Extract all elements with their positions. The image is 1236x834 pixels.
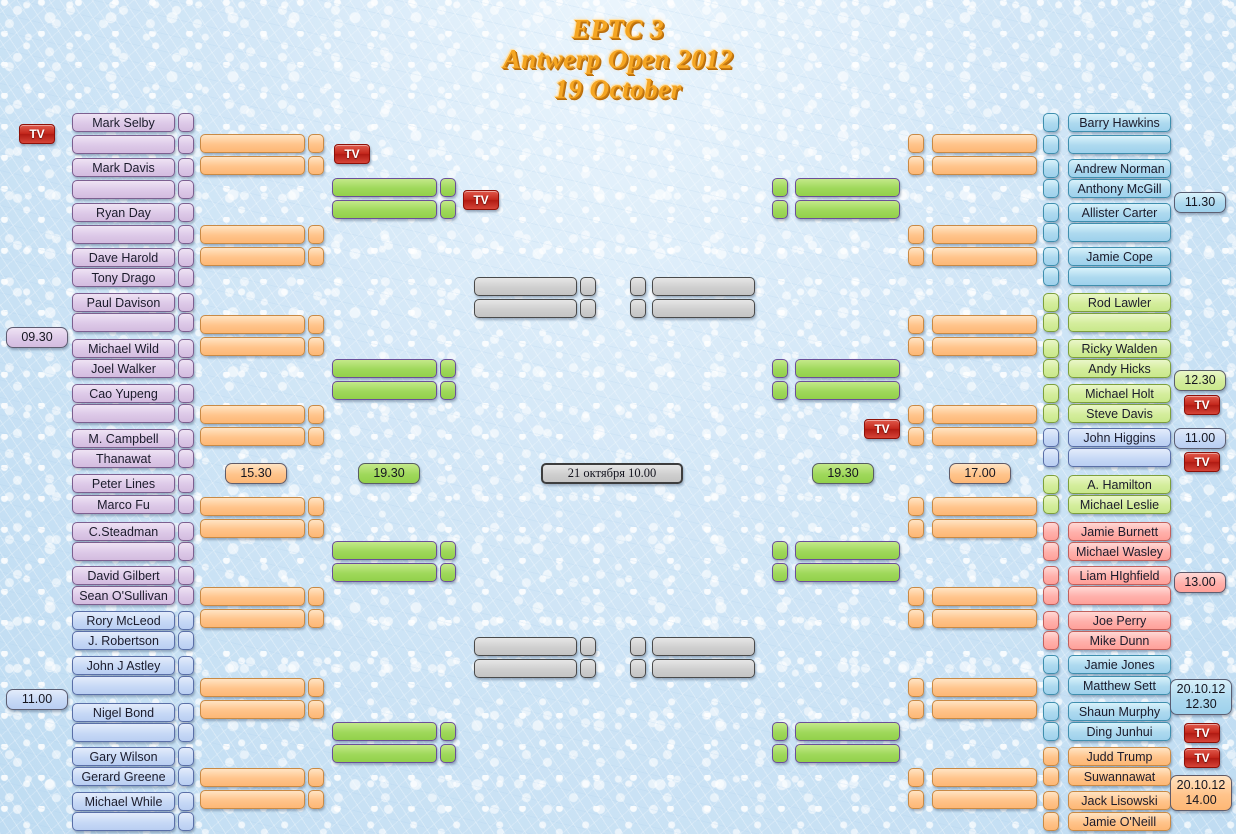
title-line-1: EPTC 3 bbox=[0, 14, 1236, 44]
score-box[interactable] bbox=[308, 587, 324, 606]
time-label-line: 11.00 bbox=[1185, 431, 1215, 446]
score-box[interactable] bbox=[908, 247, 924, 266]
empty-slot[interactable] bbox=[795, 722, 900, 741]
score-box[interactable] bbox=[1043, 359, 1059, 378]
score-box[interactable] bbox=[908, 134, 924, 153]
time-label-line: 19.30 bbox=[373, 466, 404, 481]
player-slot[interactable]: Ricky Walden bbox=[1068, 339, 1171, 358]
player-slot[interactable]: Sean O'Sullivan bbox=[72, 586, 175, 605]
empty-slot[interactable] bbox=[1068, 586, 1171, 605]
score-box[interactable] bbox=[178, 268, 194, 287]
score-box[interactable] bbox=[178, 313, 194, 332]
score-box[interactable] bbox=[308, 337, 324, 356]
score-box[interactable] bbox=[1043, 404, 1059, 423]
empty-slot[interactable] bbox=[652, 299, 755, 318]
empty-slot[interactable] bbox=[72, 225, 175, 244]
player-slot[interactable]: Peter Lines bbox=[72, 474, 175, 493]
player-slot[interactable]: Gerard Greene bbox=[72, 767, 175, 786]
score-box[interactable] bbox=[178, 248, 194, 267]
score-box[interactable] bbox=[772, 381, 788, 400]
empty-slot[interactable] bbox=[200, 134, 305, 153]
page-title: EPTC 3 Antwerp Open 2012 19 October bbox=[0, 14, 1236, 104]
empty-slot[interactable] bbox=[474, 277, 577, 296]
score-box[interactable] bbox=[308, 427, 324, 446]
score-box[interactable] bbox=[178, 703, 194, 722]
score-box[interactable] bbox=[440, 359, 456, 378]
empty-slot[interactable] bbox=[932, 156, 1037, 175]
tv-badge: TV bbox=[334, 144, 370, 164]
score-box[interactable] bbox=[308, 790, 324, 809]
score-box[interactable] bbox=[308, 609, 324, 628]
player-slot[interactable]: Tony Drago bbox=[72, 268, 175, 287]
score-box[interactable] bbox=[440, 381, 456, 400]
score-box[interactable] bbox=[908, 768, 924, 787]
score-box[interactable] bbox=[1043, 791, 1059, 810]
score-box[interactable] bbox=[1043, 179, 1059, 198]
score-box[interactable] bbox=[630, 299, 646, 318]
score-box[interactable] bbox=[308, 768, 324, 787]
player-slot[interactable]: Gary Wilson bbox=[72, 747, 175, 766]
empty-slot[interactable] bbox=[932, 587, 1037, 606]
empty-slot[interactable] bbox=[332, 381, 437, 400]
score-box[interactable] bbox=[1043, 747, 1059, 766]
score-box[interactable] bbox=[178, 359, 194, 378]
player-slot[interactable]: Michael While bbox=[72, 792, 175, 811]
empty-slot[interactable] bbox=[652, 277, 755, 296]
title-line-3: 19 October bbox=[0, 74, 1236, 104]
score-box[interactable] bbox=[308, 678, 324, 697]
score-box[interactable] bbox=[440, 744, 456, 763]
player-slot[interactable]: Michael Wild bbox=[72, 339, 175, 358]
empty-slot[interactable] bbox=[72, 676, 175, 695]
time-label-line: 17.00 bbox=[964, 466, 995, 481]
score-box[interactable] bbox=[178, 339, 194, 358]
player-slot[interactable]: Andrew Norman bbox=[1068, 159, 1171, 178]
empty-slot[interactable] bbox=[332, 200, 437, 219]
score-box[interactable] bbox=[908, 427, 924, 446]
empty-slot[interactable] bbox=[932, 768, 1037, 787]
score-box[interactable] bbox=[178, 586, 194, 605]
score-box[interactable] bbox=[308, 700, 324, 719]
empty-slot[interactable] bbox=[200, 587, 305, 606]
player-slot[interactable]: Marco Fu bbox=[72, 495, 175, 514]
score-box[interactable] bbox=[178, 611, 194, 630]
score-box[interactable] bbox=[908, 337, 924, 356]
score-box[interactable] bbox=[1043, 586, 1059, 605]
empty-slot[interactable] bbox=[332, 722, 437, 741]
score-box[interactable] bbox=[1043, 293, 1059, 312]
title-line-2: Antwerp Open 2012 bbox=[0, 44, 1236, 74]
empty-slot[interactable] bbox=[72, 723, 175, 742]
player-slot[interactable]: John Higgins bbox=[1068, 428, 1171, 447]
score-box[interactable] bbox=[630, 659, 646, 678]
score-box[interactable] bbox=[178, 180, 194, 199]
empty-slot[interactable] bbox=[932, 134, 1037, 153]
empty-slot[interactable] bbox=[795, 541, 900, 560]
score-box[interactable] bbox=[308, 405, 324, 424]
player-slot[interactable]: Mark Selby bbox=[72, 113, 175, 132]
empty-slot[interactable] bbox=[932, 247, 1037, 266]
time-label: 13.00 bbox=[1174, 572, 1226, 593]
score-box[interactable] bbox=[308, 519, 324, 538]
score-box[interactable] bbox=[178, 631, 194, 650]
score-box[interactable] bbox=[908, 156, 924, 175]
empty-slot[interactable] bbox=[932, 405, 1037, 424]
score-box[interactable] bbox=[1043, 495, 1059, 514]
final-time-label: 21 октября 10.00 bbox=[541, 463, 683, 484]
time-label: 11.30 bbox=[1174, 192, 1226, 213]
score-box[interactable] bbox=[908, 609, 924, 628]
score-box[interactable] bbox=[178, 723, 194, 742]
score-box[interactable] bbox=[308, 134, 324, 153]
empty-slot[interactable] bbox=[932, 790, 1037, 809]
score-box[interactable] bbox=[178, 566, 194, 585]
empty-slot[interactable] bbox=[932, 497, 1037, 516]
score-box[interactable] bbox=[178, 542, 194, 561]
score-box[interactable] bbox=[178, 225, 194, 244]
score-box[interactable] bbox=[178, 767, 194, 786]
empty-slot[interactable] bbox=[200, 337, 305, 356]
empty-slot[interactable] bbox=[1068, 448, 1171, 467]
empty-slot[interactable] bbox=[932, 609, 1037, 628]
player-slot[interactable]: Thanawat bbox=[72, 449, 175, 468]
empty-slot[interactable] bbox=[200, 247, 305, 266]
time-label: 12.30 bbox=[1174, 370, 1226, 391]
empty-slot[interactable] bbox=[200, 497, 305, 516]
score-box[interactable] bbox=[178, 158, 194, 177]
player-slot[interactable]: Andy Hicks bbox=[1068, 359, 1171, 378]
score-box[interactable] bbox=[440, 563, 456, 582]
player-slot[interactable]: Joel Walker bbox=[72, 359, 175, 378]
score-box[interactable] bbox=[1043, 384, 1059, 403]
score-box[interactable] bbox=[772, 563, 788, 582]
empty-slot[interactable] bbox=[200, 225, 305, 244]
score-box[interactable] bbox=[580, 277, 596, 296]
score-box[interactable] bbox=[1043, 542, 1059, 561]
player-slot[interactable]: C.Steadman bbox=[72, 522, 175, 541]
score-box[interactable] bbox=[908, 678, 924, 697]
time-label: 19.30 bbox=[812, 463, 874, 484]
player-slot[interactable]: Nigel Bond bbox=[72, 703, 175, 722]
score-box[interactable] bbox=[308, 225, 324, 244]
score-box[interactable] bbox=[1043, 702, 1059, 721]
score-box[interactable] bbox=[1043, 113, 1059, 132]
time-label-line: 11.00 bbox=[22, 692, 52, 707]
score-box[interactable] bbox=[308, 315, 324, 334]
empty-slot[interactable] bbox=[332, 744, 437, 763]
score-box[interactable] bbox=[772, 200, 788, 219]
score-box[interactable] bbox=[630, 277, 646, 296]
score-box[interactable] bbox=[1043, 676, 1059, 695]
empty-slot[interactable] bbox=[652, 637, 755, 656]
score-box[interactable] bbox=[178, 384, 194, 403]
score-box[interactable] bbox=[1043, 522, 1059, 541]
empty-slot[interactable] bbox=[72, 313, 175, 332]
score-box[interactable] bbox=[308, 156, 324, 175]
empty-slot[interactable] bbox=[932, 678, 1037, 697]
score-box[interactable] bbox=[580, 299, 596, 318]
empty-slot[interactable] bbox=[932, 519, 1037, 538]
score-box[interactable] bbox=[1043, 159, 1059, 178]
score-box[interactable] bbox=[178, 747, 194, 766]
score-box[interactable] bbox=[1043, 135, 1059, 154]
player-slot[interactable]: Shaun Murphy bbox=[1068, 702, 1171, 721]
empty-slot[interactable] bbox=[72, 180, 175, 199]
time-label: 11.00 bbox=[1174, 428, 1226, 449]
player-slot[interactable]: Joe Perry bbox=[1068, 611, 1171, 630]
player-slot[interactable]: Dave Harold bbox=[72, 248, 175, 267]
empty-slot[interactable] bbox=[795, 178, 900, 197]
tv-badge: TV bbox=[1184, 452, 1220, 472]
score-box[interactable] bbox=[440, 200, 456, 219]
player-slot[interactable]: John J Astley bbox=[72, 656, 175, 675]
score-box[interactable] bbox=[1043, 203, 1059, 222]
score-box[interactable] bbox=[178, 449, 194, 468]
score-box[interactable] bbox=[178, 404, 194, 423]
score-box[interactable] bbox=[630, 637, 646, 656]
player-slot[interactable]: Michael Leslie bbox=[1068, 495, 1171, 514]
empty-slot[interactable] bbox=[200, 156, 305, 175]
player-slot[interactable]: Michael Holt bbox=[1068, 384, 1171, 403]
time-label-line: 12.30 bbox=[1185, 697, 1216, 712]
empty-slot[interactable] bbox=[200, 768, 305, 787]
score-box[interactable] bbox=[1043, 448, 1059, 467]
empty-slot[interactable] bbox=[200, 790, 305, 809]
time-label-line: 12.30 bbox=[1184, 373, 1215, 388]
score-box[interactable] bbox=[772, 744, 788, 763]
score-box[interactable] bbox=[772, 541, 788, 560]
time-label: 20.10.1214.00 bbox=[1170, 775, 1232, 811]
empty-slot[interactable] bbox=[932, 427, 1037, 446]
time-label-line: 19.30 bbox=[827, 466, 858, 481]
score-box[interactable] bbox=[1043, 475, 1059, 494]
player-slot[interactable]: Cao Yupeng bbox=[72, 384, 175, 403]
player-slot[interactable]: Jamie Cope bbox=[1068, 247, 1171, 266]
time-label-line: 09.30 bbox=[21, 330, 52, 345]
player-slot[interactable]: Matthew Sett bbox=[1068, 676, 1171, 695]
player-slot[interactable]: Barry Hawkins bbox=[1068, 113, 1171, 132]
empty-slot[interactable] bbox=[200, 405, 305, 424]
score-box[interactable] bbox=[1043, 566, 1059, 585]
player-slot[interactable]: Paul Davison bbox=[72, 293, 175, 312]
empty-slot[interactable] bbox=[932, 700, 1037, 719]
tv-badge: TV bbox=[1184, 395, 1220, 415]
empty-slot[interactable] bbox=[795, 381, 900, 400]
time-label: 20.10.1212.30 bbox=[1170, 679, 1232, 715]
empty-slot[interactable] bbox=[932, 315, 1037, 334]
score-box[interactable] bbox=[1043, 655, 1059, 674]
score-box[interactable] bbox=[1043, 611, 1059, 630]
player-slot[interactable]: Judd Trump bbox=[1068, 747, 1171, 766]
player-slot[interactable]: Steve Davis bbox=[1068, 404, 1171, 423]
empty-slot[interactable] bbox=[932, 225, 1037, 244]
score-box[interactable] bbox=[178, 495, 194, 514]
tv-badge: TV bbox=[1184, 748, 1220, 768]
score-box[interactable] bbox=[908, 225, 924, 244]
time-label: 15.30 bbox=[225, 463, 287, 484]
player-slot[interactable]: Suwannawat bbox=[1068, 767, 1171, 786]
score-box[interactable] bbox=[580, 637, 596, 656]
player-slot[interactable]: A. Hamilton bbox=[1068, 475, 1171, 494]
empty-slot[interactable] bbox=[200, 427, 305, 446]
score-box[interactable] bbox=[178, 203, 194, 222]
empty-slot[interactable] bbox=[72, 404, 175, 423]
score-box[interactable] bbox=[440, 178, 456, 197]
empty-slot[interactable] bbox=[652, 659, 755, 678]
score-box[interactable] bbox=[440, 722, 456, 741]
empty-slot[interactable] bbox=[332, 563, 437, 582]
score-box[interactable] bbox=[178, 656, 194, 675]
empty-slot[interactable] bbox=[200, 700, 305, 719]
empty-slot[interactable] bbox=[474, 637, 577, 656]
score-box[interactable] bbox=[1043, 247, 1059, 266]
player-slot[interactable]: J. Robertson bbox=[72, 631, 175, 650]
score-box[interactable] bbox=[1043, 428, 1059, 447]
tv-badge: TV bbox=[864, 419, 900, 439]
empty-slot[interactable] bbox=[1068, 313, 1171, 332]
score-box[interactable] bbox=[580, 659, 596, 678]
empty-slot[interactable] bbox=[332, 178, 437, 197]
time-label-line: 14.00 bbox=[1185, 793, 1216, 808]
score-box[interactable] bbox=[908, 700, 924, 719]
score-box[interactable] bbox=[908, 519, 924, 538]
time-label: 17.00 bbox=[949, 463, 1011, 484]
empty-slot[interactable] bbox=[200, 609, 305, 628]
tv-badge: TV bbox=[19, 124, 55, 144]
score-box[interactable] bbox=[178, 429, 194, 448]
tv-badge: TV bbox=[1184, 723, 1220, 743]
score-box[interactable] bbox=[908, 587, 924, 606]
score-box[interactable] bbox=[178, 522, 194, 541]
time-label-line: 13.00 bbox=[1184, 575, 1215, 590]
score-box[interactable] bbox=[178, 113, 194, 132]
score-box[interactable] bbox=[772, 722, 788, 741]
player-slot[interactable]: David Gilbert bbox=[72, 566, 175, 585]
empty-slot[interactable] bbox=[474, 299, 577, 318]
score-box[interactable] bbox=[308, 497, 324, 516]
time-label-line: 20.10.12 bbox=[1177, 778, 1226, 793]
player-slot[interactable]: Mike Dunn bbox=[1068, 631, 1171, 650]
empty-slot[interactable] bbox=[200, 315, 305, 334]
player-slot[interactable]: Allister Carter bbox=[1068, 203, 1171, 222]
score-box[interactable] bbox=[908, 497, 924, 516]
empty-slot[interactable] bbox=[795, 744, 900, 763]
score-box[interactable] bbox=[1043, 631, 1059, 650]
score-box[interactable] bbox=[178, 676, 194, 695]
player-slot[interactable]: Michael Wasley bbox=[1068, 542, 1171, 561]
player-slot[interactable]: Jack Lisowski bbox=[1068, 791, 1171, 810]
time-label-line: 11.30 bbox=[1185, 195, 1215, 210]
score-box[interactable] bbox=[908, 790, 924, 809]
empty-slot[interactable] bbox=[932, 337, 1037, 356]
player-slot[interactable]: Rory McLeod bbox=[72, 611, 175, 630]
empty-slot[interactable] bbox=[332, 359, 437, 378]
player-slot[interactable]: Anthony McGill bbox=[1068, 179, 1171, 198]
tv-badge: TV bbox=[463, 190, 499, 210]
time-label: 11.00 bbox=[6, 689, 68, 710]
score-box[interactable] bbox=[908, 315, 924, 334]
score-box[interactable] bbox=[178, 792, 194, 811]
time-label-line: 20.10.12 bbox=[1177, 682, 1226, 697]
empty-slot[interactable] bbox=[332, 541, 437, 560]
score-box[interactable] bbox=[178, 474, 194, 493]
score-box[interactable] bbox=[1043, 223, 1059, 242]
time-label: 09.30 bbox=[6, 327, 68, 348]
empty-slot[interactable] bbox=[795, 200, 900, 219]
score-box[interactable] bbox=[1043, 767, 1059, 786]
player-slot[interactable]: Liam HIghfield bbox=[1068, 566, 1171, 585]
player-slot[interactable]: Rod Lawler bbox=[1068, 293, 1171, 312]
score-box[interactable] bbox=[1043, 812, 1059, 831]
score-box[interactable] bbox=[440, 541, 456, 560]
score-box[interactable] bbox=[308, 247, 324, 266]
player-slot[interactable]: Jamie O'Neill bbox=[1068, 812, 1171, 831]
player-slot[interactable]: Jamie Jones bbox=[1068, 655, 1171, 674]
empty-slot[interactable] bbox=[200, 678, 305, 697]
score-box[interactable] bbox=[178, 293, 194, 312]
score-box[interactable] bbox=[908, 405, 924, 424]
player-slot[interactable]: Mark Davis bbox=[72, 158, 175, 177]
empty-slot[interactable] bbox=[72, 542, 175, 561]
player-slot[interactable]: Ryan Day bbox=[72, 203, 175, 222]
score-box[interactable] bbox=[1043, 267, 1059, 286]
score-box[interactable] bbox=[1043, 722, 1059, 741]
empty-slot[interactable] bbox=[1068, 223, 1171, 242]
empty-slot[interactable] bbox=[795, 563, 900, 582]
score-box[interactable] bbox=[178, 812, 194, 831]
time-label-line: 15.30 bbox=[240, 466, 271, 481]
empty-slot[interactable] bbox=[1068, 267, 1171, 286]
player-slot[interactable]: M. Campbell bbox=[72, 429, 175, 448]
empty-slot[interactable] bbox=[72, 812, 175, 831]
score-box[interactable] bbox=[772, 178, 788, 197]
player-slot[interactable]: Jamie Burnett bbox=[1068, 522, 1171, 541]
empty-slot[interactable] bbox=[795, 359, 900, 378]
score-box[interactable] bbox=[772, 359, 788, 378]
player-slot[interactable]: Ding Junhui bbox=[1068, 722, 1171, 741]
empty-slot[interactable] bbox=[72, 135, 175, 154]
empty-slot[interactable] bbox=[200, 519, 305, 538]
empty-slot[interactable] bbox=[474, 659, 577, 678]
score-box[interactable] bbox=[178, 135, 194, 154]
score-box[interactable] bbox=[1043, 339, 1059, 358]
empty-slot[interactable] bbox=[1068, 135, 1171, 154]
time-label: 19.30 bbox=[358, 463, 420, 484]
score-box[interactable] bbox=[1043, 313, 1059, 332]
